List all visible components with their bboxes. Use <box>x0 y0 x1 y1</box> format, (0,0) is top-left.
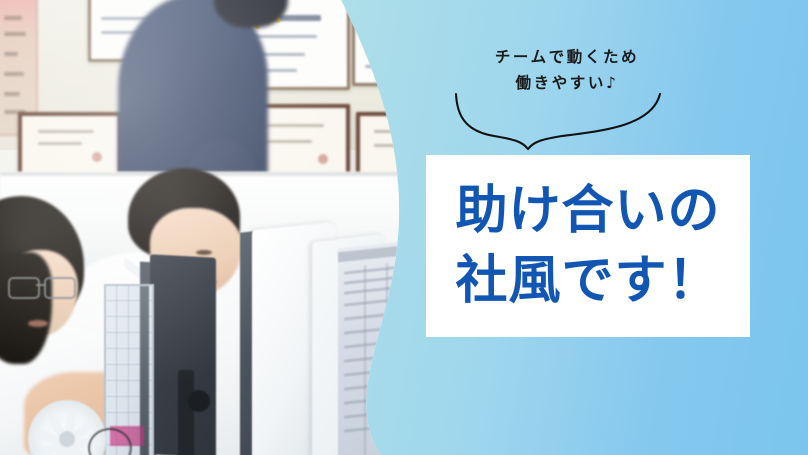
monitor-arm <box>178 370 194 455</box>
whiteboard-right <box>352 0 420 86</box>
headline-box: 助け合いの 社風です！ <box>426 155 750 337</box>
headline-line-1: 助け合いの <box>455 179 720 243</box>
glasses-icon <box>6 277 78 297</box>
monitor-joint-knob <box>188 390 210 412</box>
curly-brace-down-icon <box>450 92 676 150</box>
headline: 助け合いの 社風です！ <box>426 155 750 337</box>
person-smiling-man-eye <box>196 250 212 255</box>
headline-line-2: 社風です！ <box>455 249 720 313</box>
office-photo-image <box>0 0 420 455</box>
person-woman-mouth <box>28 320 48 327</box>
recruit-banner: チームで動くため 働きやすい♪ 助け合いの 社風です！ <box>0 0 808 455</box>
catchcopy-text: チームで動くため 働きやすい♪ <box>452 44 682 96</box>
office-photo <box>0 0 420 455</box>
monitor-screen-right <box>338 240 420 455</box>
